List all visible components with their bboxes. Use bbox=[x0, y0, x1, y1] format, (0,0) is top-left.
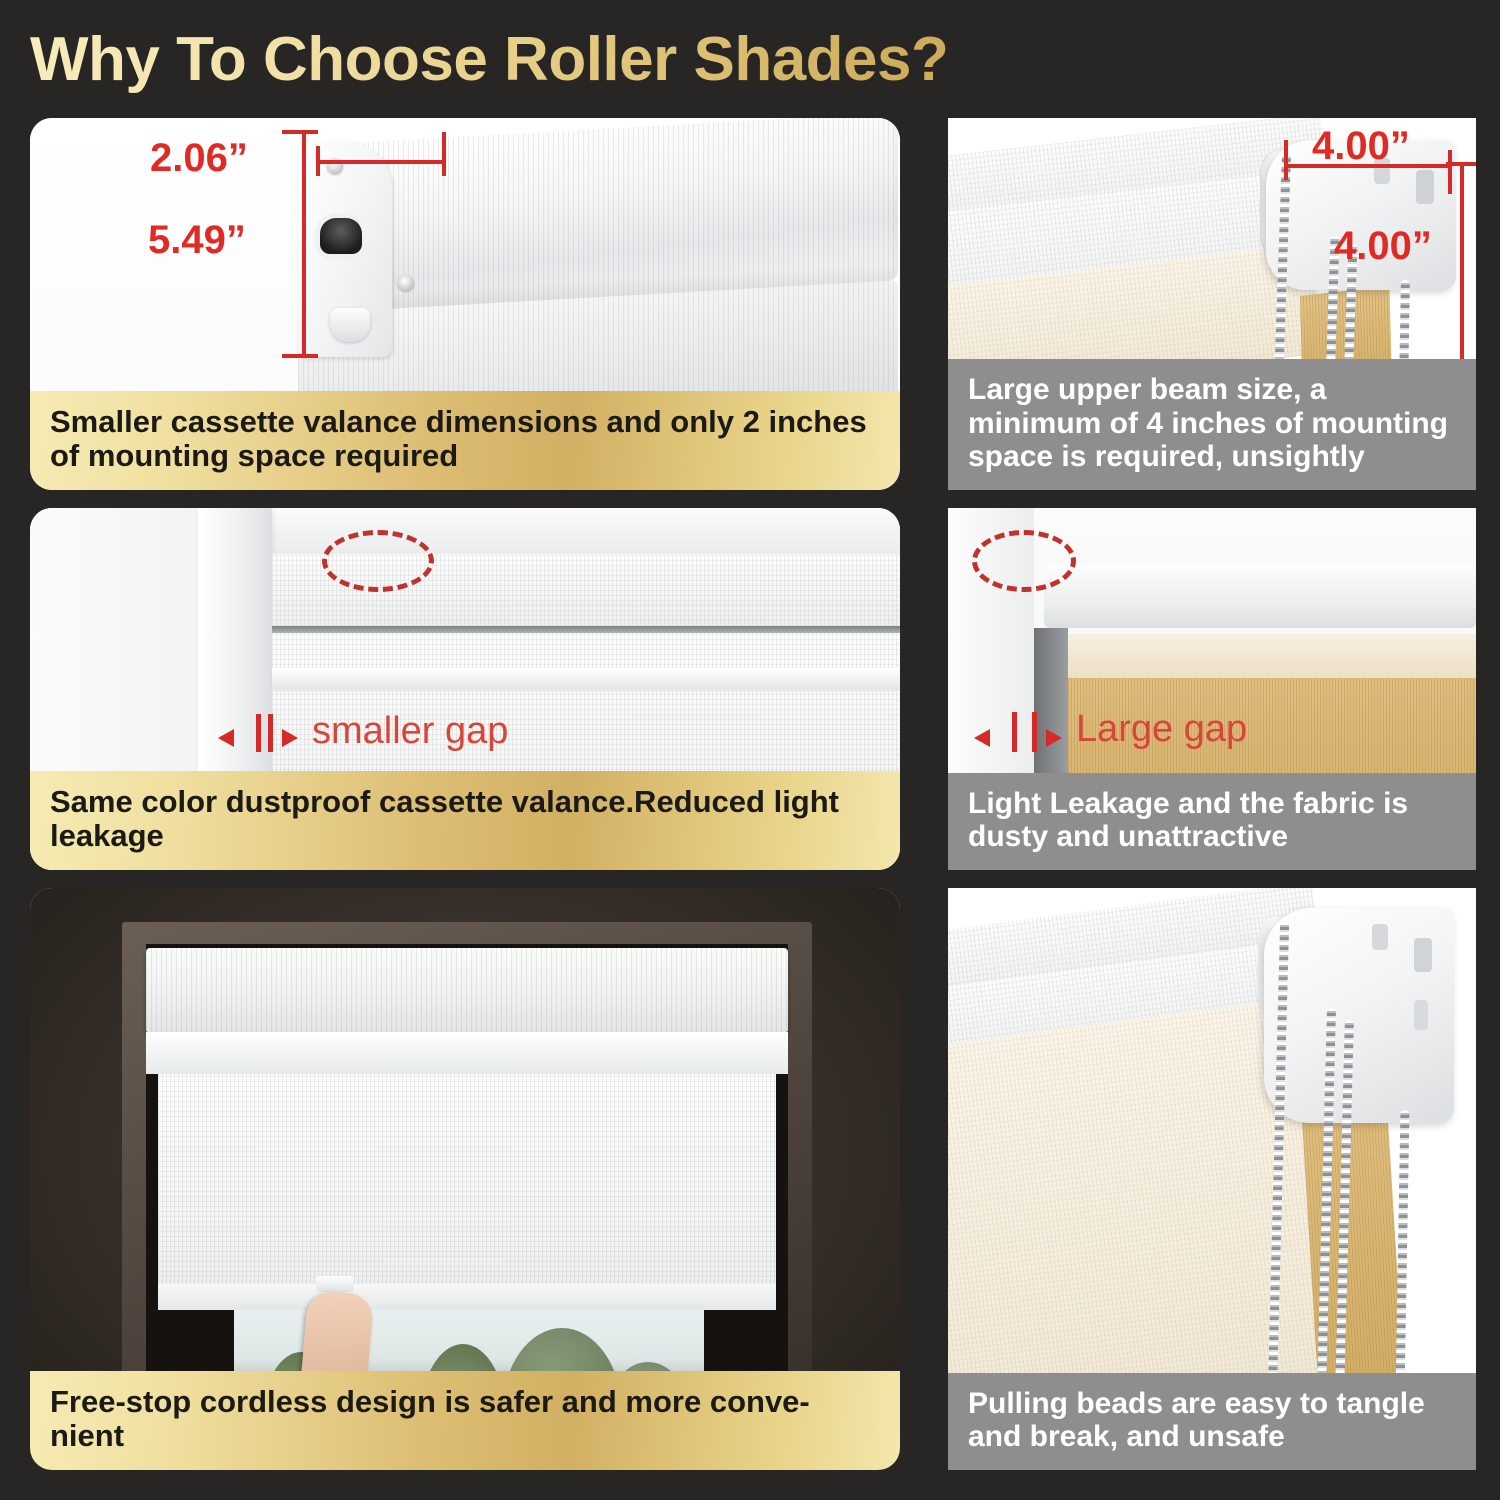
gap-arrow-left-icon bbox=[974, 729, 990, 747]
panel-caption: Pulling beads are easy to tangle and bre… bbox=[948, 1373, 1476, 1470]
height-dimension-tick-top bbox=[282, 130, 318, 134]
page-title: Why To Choose Roller Shades? bbox=[30, 16, 1130, 104]
height-dimension-label: 4.00” bbox=[1334, 224, 1432, 269]
width-dimension-tick-right bbox=[1448, 150, 1452, 194]
panel-caption: Free-stop cordless design is safer and m… bbox=[30, 1371, 900, 1470]
height-dimension-line bbox=[302, 130, 306, 358]
valance-slot bbox=[320, 218, 362, 254]
height-dimension-label: 5.49” bbox=[148, 218, 246, 263]
panel-cassette-valance-dimensions: 2.06” 5.49” Smaller cassette valance dim… bbox=[30, 118, 900, 490]
gap-arrow-left-icon bbox=[218, 729, 234, 747]
pull-knob bbox=[316, 1276, 354, 1292]
gap-marker-right bbox=[268, 714, 273, 752]
shade-rail bbox=[272, 668, 900, 690]
shade-bottom-rail bbox=[158, 1284, 776, 1310]
panel-large-gap: Large gap Light Leakage and the fabric i… bbox=[948, 508, 1476, 870]
width-dimension-label: 4.00” bbox=[1312, 124, 1410, 169]
gap-arrow-right-icon bbox=[282, 729, 298, 747]
panel-pulling-beads: Pulling beads are easy to tangle and bre… bbox=[948, 888, 1476, 1470]
height-dimension-tick-top bbox=[1446, 162, 1476, 166]
gap-highlight-ellipse bbox=[322, 530, 434, 592]
panel-smaller-gap: smaller gap Same color dustproof cassett… bbox=[30, 508, 900, 870]
bracket-notch bbox=[1414, 1000, 1428, 1030]
valance-lip bbox=[146, 1032, 788, 1074]
gap-marker-left bbox=[1012, 712, 1017, 752]
roller-tube bbox=[1044, 564, 1476, 628]
shade-beige-band bbox=[1068, 634, 1476, 678]
gap-callout-label: smaller gap bbox=[312, 710, 508, 753]
page-title-text: Why To Choose Roller Shades? bbox=[30, 16, 1130, 104]
gap-arrow-right-icon bbox=[1046, 729, 1062, 747]
height-dimension-tick-bottom bbox=[282, 354, 318, 358]
width-dimension-tick-right bbox=[442, 132, 446, 176]
panel-large-upper-beam: 4.00” 4.00” Large upper beam size, a min… bbox=[948, 118, 1476, 490]
gap-marker-left bbox=[256, 714, 261, 752]
cassette-valance bbox=[146, 948, 788, 1032]
panel-caption: Smaller cassette valance dimensions and … bbox=[30, 391, 900, 490]
bracket-notch bbox=[1414, 938, 1432, 972]
panel-caption: Same color dustproof cassette valance.Re… bbox=[30, 771, 900, 870]
width-dimension-tick-left bbox=[1284, 140, 1288, 180]
panel-caption: Large upper beam size, a minimum of 4 in… bbox=[948, 359, 1476, 490]
mounting-bracket bbox=[1264, 908, 1454, 1123]
window-frame-top bbox=[210, 508, 900, 556]
panel-caption: Light Leakage and the fabric is dusty an… bbox=[948, 773, 1476, 870]
gap-highlight-ellipse bbox=[972, 530, 1076, 592]
width-dimension-line bbox=[318, 160, 446, 164]
gap-callout-label: Large gap bbox=[1076, 708, 1247, 751]
height-dimension-line bbox=[1460, 162, 1464, 362]
screw-icon bbox=[398, 275, 414, 291]
panel-cordless-design: Free-stop cordless design is safer and m… bbox=[30, 888, 900, 1470]
gap-shadow-line bbox=[272, 626, 900, 633]
bracket-notch bbox=[1372, 924, 1388, 950]
shade-fabric bbox=[158, 1074, 776, 1292]
gap-marker-right bbox=[1032, 712, 1037, 752]
width-dimension-label: 2.06” bbox=[150, 136, 248, 181]
width-dimension-tick-left bbox=[316, 146, 320, 176]
valance-bottom-knob bbox=[330, 308, 370, 342]
